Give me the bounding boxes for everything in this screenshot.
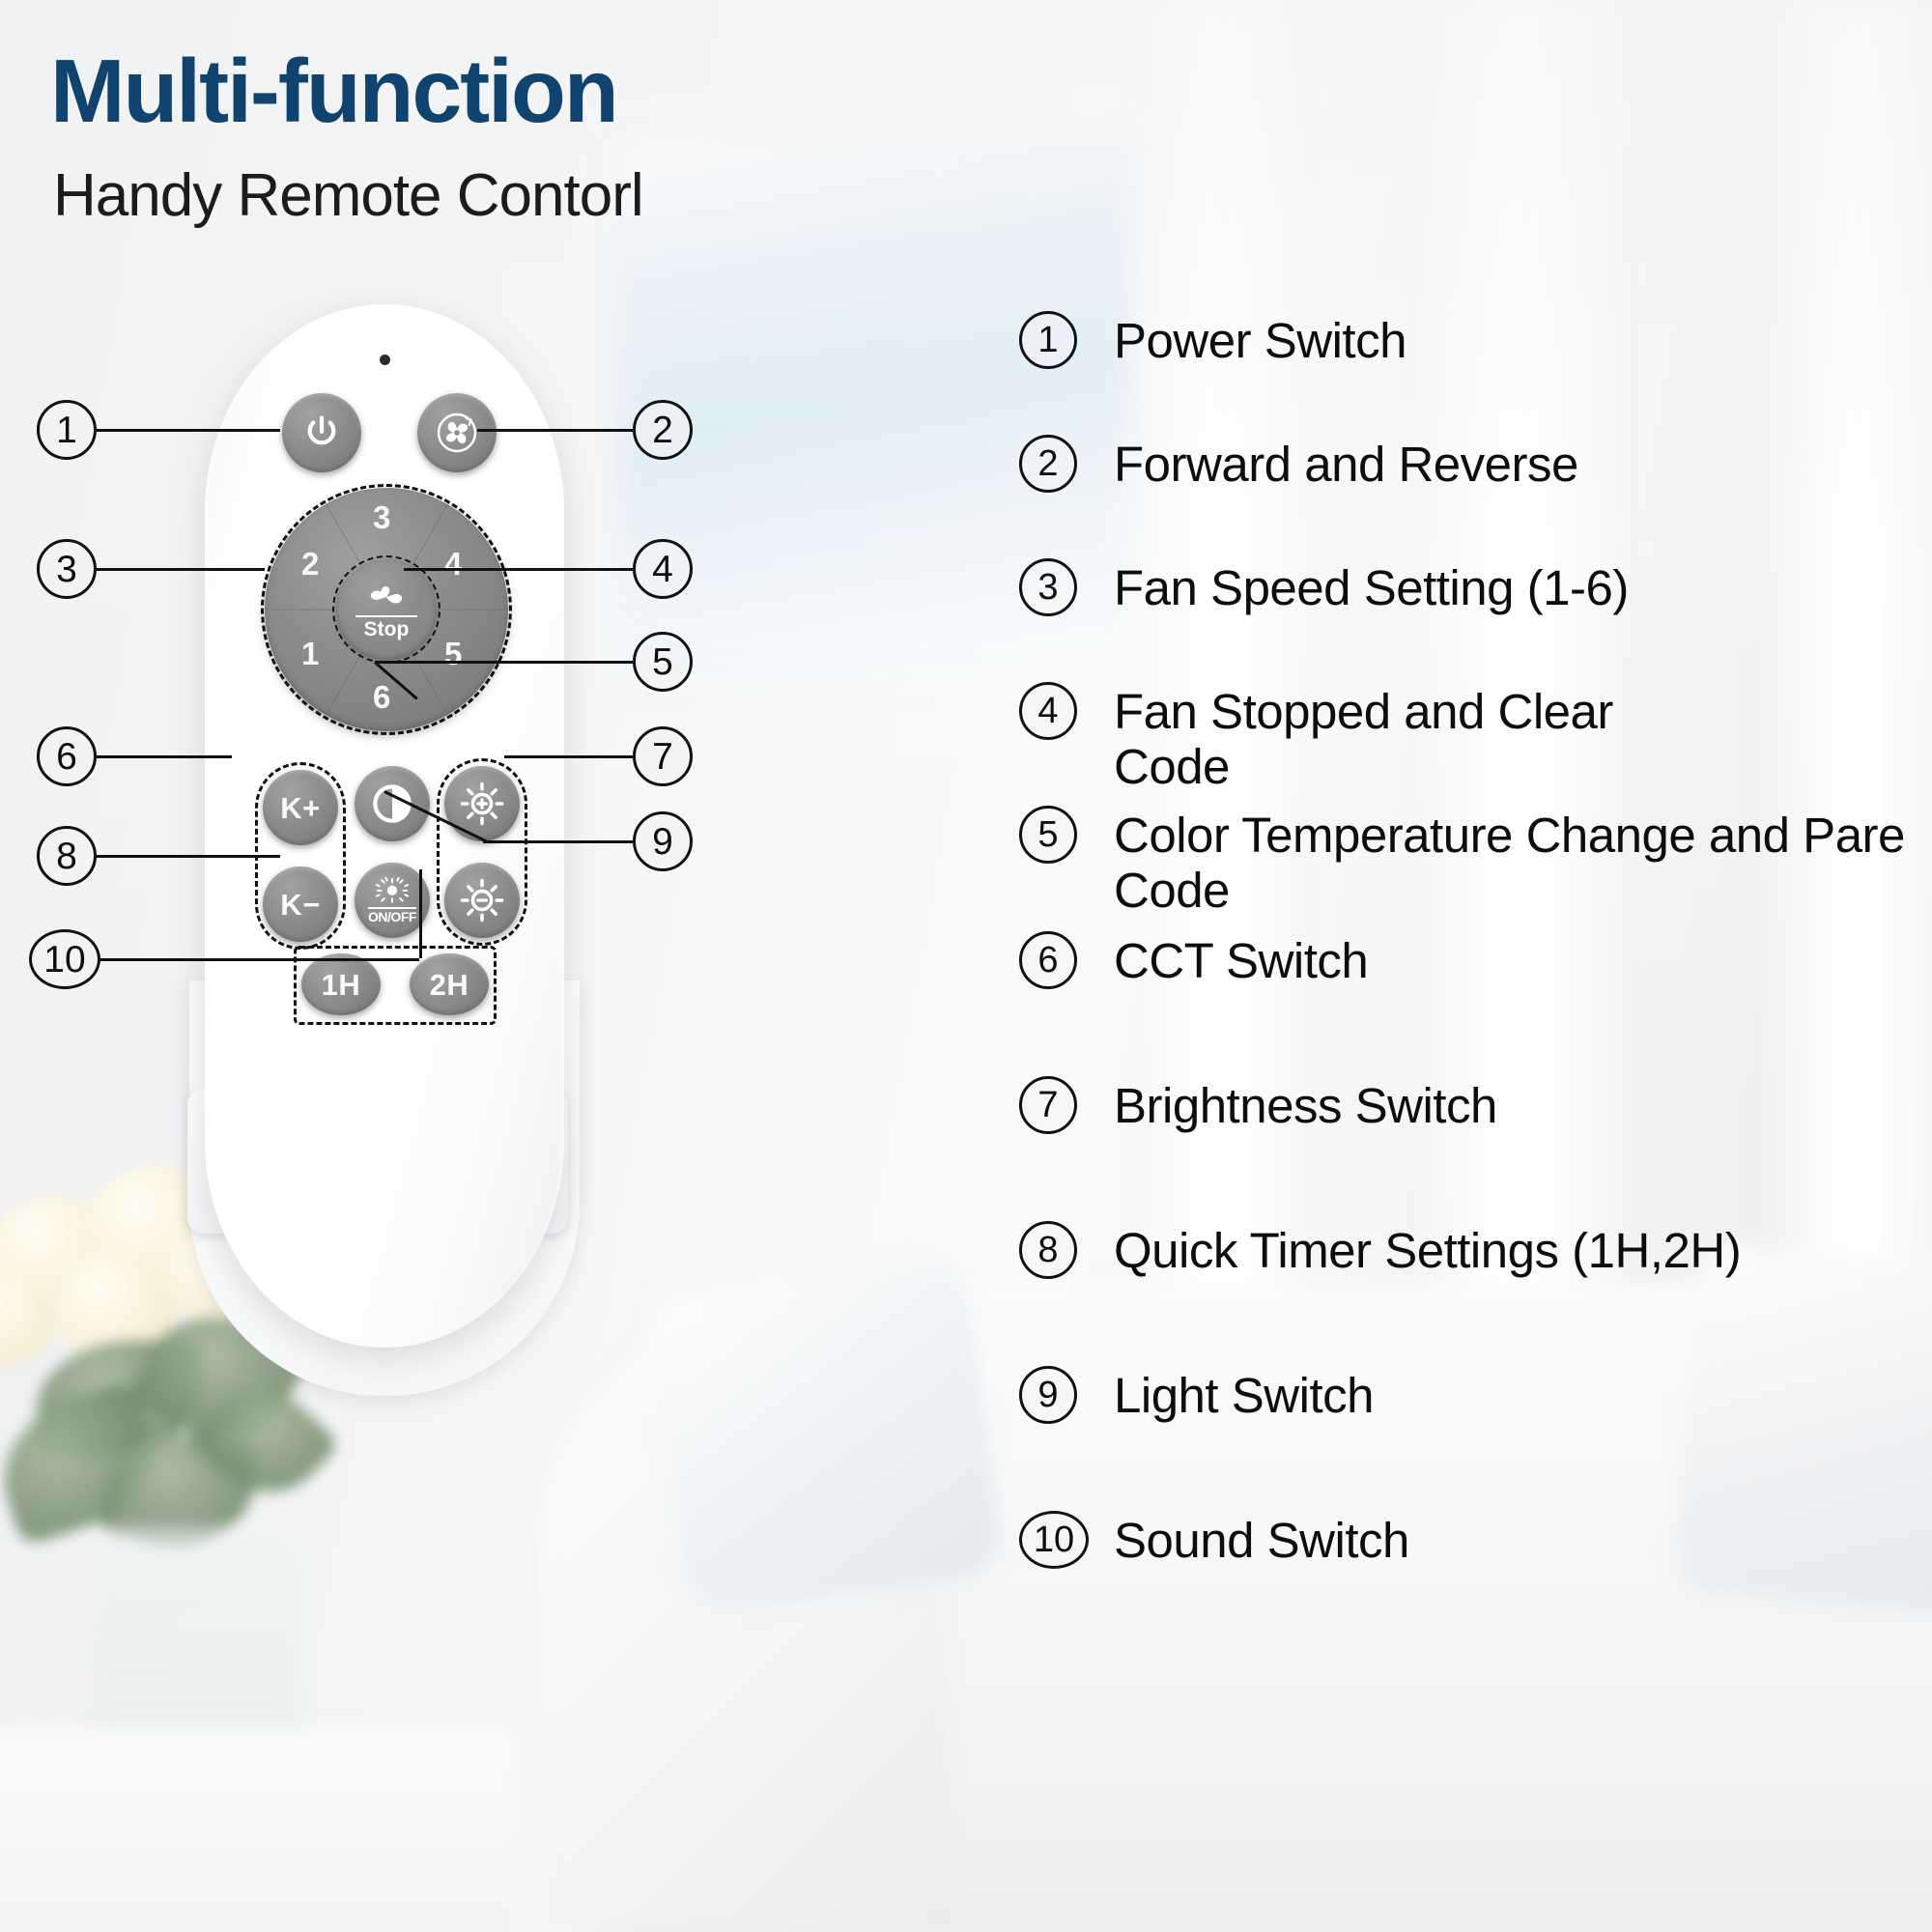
brightness-group-outline [437, 758, 527, 946]
legend-num-9: 9 [1019, 1366, 1077, 1424]
remote-body: 3 2 4 1 5 6 Stop K+ K− [205, 304, 564, 1348]
device-callout-8: 8 [37, 826, 97, 886]
legend-item-fan-speed: 3 Fan Speed Setting (1-6) [1019, 558, 1629, 616]
legend-label-2: Forward and Reverse [1114, 435, 1578, 492]
device-callout-6: 6 [37, 726, 97, 786]
device-callout-1-leader [97, 429, 280, 432]
device-callout-5: 5 [633, 632, 693, 692]
legend-num-10: 10 [1019, 1511, 1089, 1569]
background-pillow-left [648, 1257, 1004, 1612]
device-callout-7-leader [504, 755, 633, 758]
legend-item-color-temperature: 5 Color Temperature Change and Pare Code [1019, 806, 1918, 918]
legend-label-5: Color Temperature Change and Pare Code [1114, 806, 1918, 918]
device-callout-3: 3 [37, 539, 97, 599]
device-callout-1: 1 [37, 400, 97, 460]
legend-label-10: Sound Switch [1114, 1511, 1409, 1568]
page-title: Multi-function [50, 46, 617, 136]
fan-speed-group-outline [261, 484, 512, 735]
device-callout-3-leader [97, 568, 265, 571]
legend-item-quick-timer: 8 Quick Timer Settings (1H,2H) [1019, 1221, 1741, 1279]
device-callout-10-leader [100, 958, 419, 961]
device-callout-8-leader [97, 855, 280, 858]
remote-control-device: 3 2 4 1 5 6 Stop K+ K− [182, 304, 587, 1396]
legend-num-8: 8 [1019, 1221, 1077, 1279]
legend-item-sound-switch: 10 Sound Switch [1019, 1511, 1409, 1569]
device-callout-9: 9 [633, 811, 693, 871]
fan-reverse-icon [435, 411, 479, 455]
device-callout-10: 10 [29, 929, 100, 989]
legend-label-6: CCT Switch [1114, 931, 1368, 988]
device-callout-5-leader [375, 661, 633, 664]
color-temperature-button[interactable] [355, 766, 430, 841]
legend-label-1: Power Switch [1114, 311, 1406, 368]
page-subtitle: Handy Remote Contorl [53, 166, 643, 226]
device-callout-7: 7 [633, 726, 693, 786]
device-callout-2: 2 [633, 400, 693, 460]
power-icon [301, 412, 342, 453]
device-callout-2-leader [477, 429, 633, 432]
legend-label-4: Fan Stopped and Clear Code [1114, 682, 1713, 794]
device-callout-4: 4 [633, 539, 693, 599]
legend-num-4: 4 [1019, 682, 1077, 740]
legend-item-brightness-switch: 7 Brightness Switch [1019, 1076, 1497, 1134]
legend-num-1: 1 [1019, 311, 1077, 369]
legend-num-5: 5 [1019, 806, 1077, 864]
legend-num-6: 6 [1019, 931, 1077, 989]
legend-item-fan-stopped: 4 Fan Stopped and Clear Code [1019, 682, 1713, 794]
legend-num-7: 7 [1019, 1076, 1077, 1134]
legend-label-3: Fan Speed Setting (1-6) [1114, 558, 1629, 615]
device-callout-10-leader-vertical [419, 869, 422, 958]
device-callout-4-leader [404, 568, 633, 571]
legend-item-power-switch: 1 Power Switch [1019, 311, 1406, 369]
power-button[interactable] [282, 393, 361, 472]
forward-reverse-button[interactable] [417, 393, 497, 472]
device-callout-6-leader [97, 755, 232, 758]
ir-led-icon [380, 355, 390, 365]
legend-item-cct-switch: 6 CCT Switch [1019, 931, 1368, 989]
legend-label-9: Light Switch [1114, 1366, 1374, 1423]
background-pillow-right [1671, 1243, 1932, 1616]
legend-label-8: Quick Timer Settings (1H,2H) [1114, 1221, 1741, 1278]
background-table [0, 1729, 512, 1932]
legend-num-2: 2 [1019, 435, 1077, 493]
legend-num-3: 3 [1019, 558, 1077, 616]
legend-label-7: Brightness Switch [1114, 1076, 1497, 1133]
device-callout-9-leader [483, 840, 633, 843]
sun-icon [375, 877, 410, 906]
light-onoff-label: ON/OFF [368, 907, 416, 923]
legend-item-forward-reverse: 2 Forward and Reverse [1019, 435, 1578, 493]
legend-item-light-switch: 9 Light Switch [1019, 1366, 1374, 1424]
